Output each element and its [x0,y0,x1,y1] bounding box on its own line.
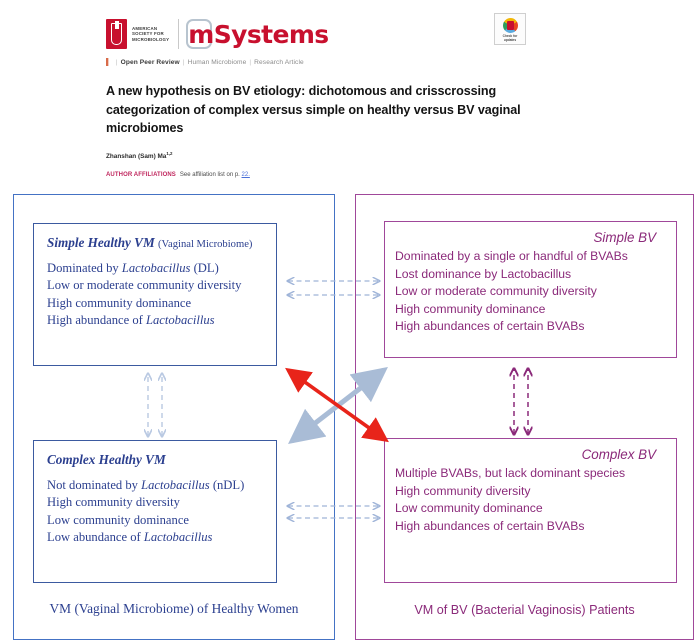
breadcrumb-sep-1: | [116,59,118,66]
box-simple-healthy-vm-line-3: High community dominance [47,295,276,312]
box-simple-healthy-vm-heading-plain: (Vaginal Microbiome) [158,239,252,250]
box-simple-bv-line-5: High abundances of certain BVABs [395,318,676,336]
box-simple-bv-line-4: High community dominance [395,301,676,319]
crossmark-label: Check for updates [503,34,518,42]
box-simple-bv-line-3: Low or moderate community diversity [395,283,676,301]
box-complex-bv-content: Complex BV Multiple BVABs, but lack domi… [385,439,676,535]
crossmark-label-line1: Check for [503,34,518,38]
affiliations-text: See affiliation list on p. [180,172,240,178]
breadcrumb-open-peer-review[interactable]: Open Peer Review [121,59,180,66]
crossmark-check-for-updates-badge[interactable]: Check for updates [494,13,526,45]
page-title: A new hypothesis on BV etiology: dichoto… [106,82,536,138]
box-complex-bv-line-1: Multiple BVABs, but lack dominant specie… [395,465,676,483]
box-simple-bv-heading: Simple BV [395,230,676,245]
breadcrumb-article-type[interactable]: Research Article [254,59,304,66]
box-complex-bv-line-2: High community diversity [395,483,676,501]
breadcrumb-tick-icon: ▌ [106,59,111,66]
breadcrumb-sep-2: | [183,59,185,66]
box-simple-healthy-vm-line-2: Low or moderate community diversity [47,277,276,294]
breadcrumb: ▌|Open Peer Review|Human Microbiome|Rese… [106,59,304,66]
journal-article-header: AMERICAN SOCIETY FOR MICROBIOLOGY mSyste… [0,0,700,186]
box-complex-healthy-vm-line-2: High community diversity [47,494,276,511]
author-affiliation-marker: 1,2 [166,151,172,156]
box-simple-healthy-vm-heading-italic: Simple Healthy VM [47,235,155,250]
affiliations-page-link[interactable]: 22. [242,172,250,178]
box-complex-bv-line-4: High abundances of certain BVABs [395,518,676,536]
bv-panel-footer-label: VM of BV (Bacterial Vaginosis) Patients [356,603,693,617]
crossmark-icon [503,18,518,33]
affiliations-label: AUTHOR AFFILIATIONS [106,172,176,178]
asm-logo-line2: SOCIETY FOR [132,31,169,37]
crossmark-label-line2: updates [503,38,518,42]
asm-logo-text: AMERICAN SOCIETY FOR MICROBIOLOGY [132,26,169,43]
box-complex-bv-line-3: Low community dominance [395,500,676,518]
journal-logo: mSystems [188,20,328,49]
box-simple-healthy-vm: Simple Healthy VM (Vaginal Microbiome) D… [33,223,277,366]
breadcrumb-sep-3: | [249,59,251,66]
journal-name: mSystems [188,20,328,49]
logo-divider [178,19,179,49]
box-complex-healthy-vm-line-3: Low community dominance [47,512,276,529]
box-complex-healthy-vm: Complex Healthy VM Not dominated by Lact… [33,440,277,583]
author-affiliations: AUTHOR AFFILIATIONSSee affiliation list … [106,172,250,178]
author-name-text: Zhanshan (Sam) Ma [106,153,166,160]
box-simple-bv-line-1: Dominated by a single or handful of BVAB… [395,248,676,266]
box-complex-bv: Complex BV Multiple BVABs, but lack domi… [384,438,677,583]
box-complex-healthy-vm-line-4: Low abundance of Lactobacillus [47,529,276,546]
box-complex-healthy-vm-heading-italic: Complex Healthy VM [47,452,166,467]
box-complex-healthy-vm-line-1: Not dominated by Lactobacillus (nDL) [47,477,276,494]
box-simple-healthy-vm-line-4: High abundance of Lactobacillus [47,312,276,329]
box-simple-bv: Simple BV Dominated by a single or handf… [384,221,677,358]
asm-flask-icon [106,19,127,49]
box-complex-bv-heading: Complex BV [395,447,676,462]
asm-logo-line3: MICROBIOLOGY [132,37,169,43]
box-simple-healthy-vm-content: Simple Healthy VM (Vaginal Microbiome) D… [34,224,276,330]
box-complex-healthy-vm-content: Complex Healthy VM Not dominated by Lact… [34,441,276,547]
box-simple-bv-line-2: Lost dominance by Lactobacillus [395,266,676,284]
box-simple-bv-content: Simple BV Dominated by a single or handf… [385,222,676,336]
author-name: Zhanshan (Sam) Ma1,2 [106,151,172,160]
healthy-panel-footer-label: VM (Vaginal Microbiome) of Healthy Women [14,601,334,617]
box-complex-healthy-vm-heading: Complex Healthy VM [47,452,276,468]
publisher-logo-row: AMERICAN SOCIETY FOR MICROBIOLOGY mSyste… [106,14,329,54]
breadcrumb-section[interactable]: Human Microbiome [188,59,247,66]
box-simple-healthy-vm-heading: Simple Healthy VM (Vaginal Microbiome) [47,235,276,251]
asm-logo: AMERICAN SOCIETY FOR MICROBIOLOGY [106,19,169,49]
box-simple-healthy-vm-line-1: Dominated by Lactobacillus (DL) [47,260,276,277]
